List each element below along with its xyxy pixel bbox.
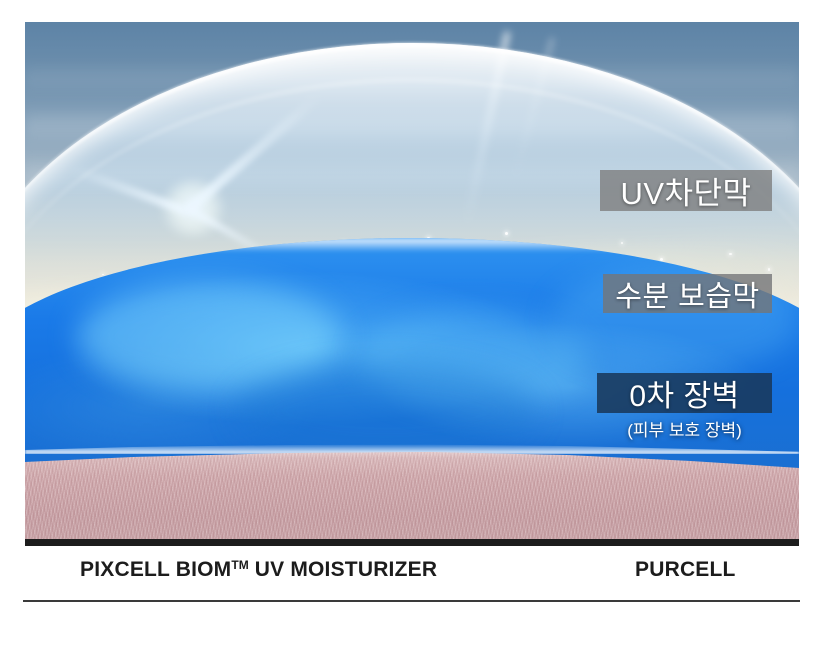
label-zero-barrier-sublabel: (피부 보호 장벽)	[597, 416, 772, 441]
label-uv-shield: UV차단막	[600, 170, 772, 211]
caption-row: PIXCELL BIOMTM UV MOISTURIZER PURCELL	[25, 558, 799, 588]
product-name: PIXCELL BIOMTM UV MOISTURIZER	[80, 558, 437, 582]
trademark-symbol: TM	[231, 558, 248, 572]
label-zero-barrier: 0차 장벽	[597, 373, 772, 413]
skin-surface-highlight	[25, 446, 799, 546]
sparkle-particle	[729, 253, 731, 255]
brand-name: PURCELL	[635, 558, 736, 582]
bottom-divider	[23, 600, 800, 602]
sparkle-particle	[768, 268, 770, 270]
label-moisture-film: 수분 보습막	[603, 274, 772, 313]
product-name-suffix: UV MOISTURIZER	[249, 558, 438, 581]
base-bar	[25, 539, 799, 546]
sparkle-particle	[505, 232, 508, 235]
gel-mottle-4	[236, 363, 536, 459]
gel-surface-highlight	[25, 238, 799, 252]
sparkle-particle	[660, 258, 663, 261]
product-name-main: PIXCELL BIOM	[80, 558, 231, 581]
page-root: UV차단막 수분 보습막 0차 장벽 (피부 보호 장벽) PIXCELL BI…	[0, 0, 824, 649]
